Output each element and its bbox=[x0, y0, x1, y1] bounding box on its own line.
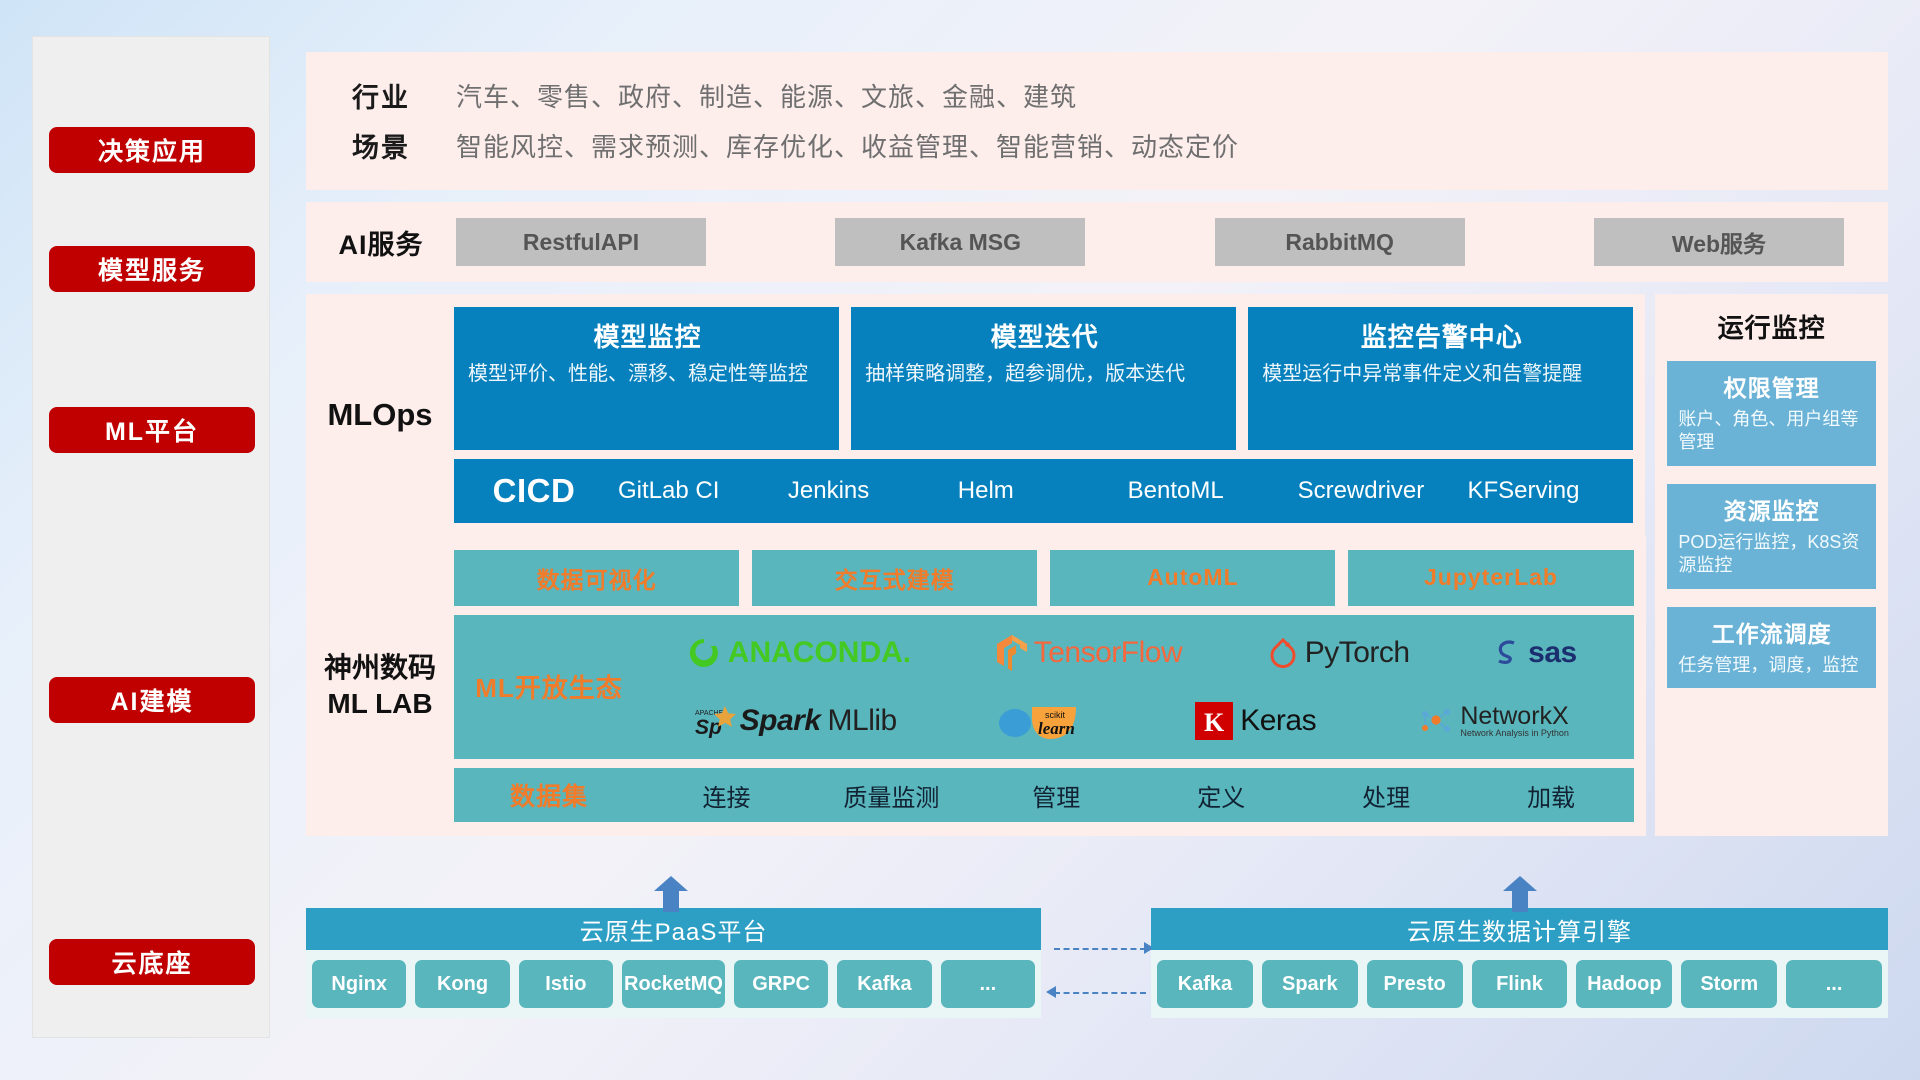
chip-label: Kafka MSG bbox=[900, 229, 1021, 256]
dataset-items: 连接 质量监测 管理 定义 处理 加载 bbox=[644, 778, 1634, 813]
dataset-item-connect[interactable]: 连接 bbox=[644, 778, 809, 813]
ai-service-chip-web-service[interactable]: Web服务 bbox=[1594, 218, 1844, 266]
compute-chip-more[interactable]: ... bbox=[1786, 960, 1882, 1008]
tensorflow-logo: TensorFlow bbox=[997, 635, 1182, 671]
stack-layer-rail: 决策应用 模型服务 ML平台 AI建模 云底座 bbox=[32, 36, 270, 1038]
spark-icon: APACHE Sp bbox=[695, 704, 737, 738]
dataset-item-loading[interactable]: 加载 bbox=[1469, 778, 1634, 813]
mlops-label: MLOps bbox=[306, 307, 454, 523]
paas-chip-kafka[interactable]: Kafka bbox=[837, 960, 931, 1008]
tool-chip-data-visualization[interactable]: 数据可视化 bbox=[454, 550, 739, 606]
ml-lab-label-line2: ML LAB bbox=[327, 686, 432, 722]
ml-lab-section: 神州数码 ML LAB 数据可视化 交互式建模 AutoML JupyterLa… bbox=[306, 536, 1646, 836]
cicd-label: CICD bbox=[454, 472, 614, 510]
card-title: 资源监控 bbox=[1678, 492, 1865, 526]
paas-chip-nginx[interactable]: Nginx bbox=[312, 960, 406, 1008]
scenario-row: 场景 智能风控、需求预测、库存优化、收益管理、智能营销、动态定价 bbox=[306, 120, 1888, 170]
anaconda-wordmark: ANACONDA. bbox=[728, 636, 911, 670]
chip-label: RabbitMQ bbox=[1285, 229, 1394, 256]
sas-logo: sas bbox=[1495, 636, 1577, 670]
pytorch-icon bbox=[1268, 636, 1298, 670]
mlops-card-alert-center[interactable]: 监控告警中心 模型运行中异常事件定义和告警提醒 bbox=[1248, 307, 1633, 450]
monitor-card-resource[interactable]: 资源监控 POD运行监控，K8S资源监控 bbox=[1667, 484, 1876, 589]
cloud-native-compute-title: 云原生数据计算引擎 bbox=[1151, 908, 1888, 950]
rail-chip-label: 云底座 bbox=[111, 944, 192, 980]
compute-chip-kafka[interactable]: Kafka bbox=[1157, 960, 1253, 1008]
keras-icon: K bbox=[1195, 702, 1233, 740]
rail-chip-decision-apps[interactable]: 决策应用 bbox=[49, 127, 255, 173]
ml-open-ecosystem-label: ML开放生态 bbox=[454, 668, 644, 705]
svg-text:Sp: Sp bbox=[695, 716, 722, 738]
cicd-item-gitlab-ci[interactable]: GitLab CI bbox=[614, 478, 784, 503]
pytorch-wordmark: PyTorch bbox=[1305, 636, 1410, 670]
networkx-logo: NetworkX Network Analysis in Python bbox=[1417, 704, 1569, 738]
compute-chip-storm[interactable]: Storm bbox=[1681, 960, 1777, 1008]
cicd-item-helm[interactable]: Helm bbox=[954, 478, 1124, 503]
sas-wordmark: sas bbox=[1528, 636, 1577, 670]
scenario-label: 场景 bbox=[306, 126, 456, 165]
cloud-base-section: 云原生PaaS平台 Nginx Kong Istio RocketMQ GRPC… bbox=[306, 880, 1888, 1040]
paas-chip-grpc[interactable]: GRPC bbox=[734, 960, 828, 1008]
paas-chip-kong[interactable]: Kong bbox=[415, 960, 509, 1008]
runtime-monitor-title: 运行监控 bbox=[1667, 308, 1876, 345]
cloud-native-paas-title: 云原生PaaS平台 bbox=[306, 908, 1041, 950]
mlops-cards: 模型监控 模型评价、性能、漂移、稳定性等监控 模型迭代 抽样策略调整，超参调优，… bbox=[454, 307, 1633, 450]
connector-line-left bbox=[1054, 992, 1146, 994]
cloud-native-paas-group: 云原生PaaS平台 Nginx Kong Istio RocketMQ GRPC… bbox=[306, 908, 1041, 1018]
paas-chip-rocketmq[interactable]: RocketMQ bbox=[622, 960, 725, 1008]
dataset-item-definition[interactable]: 定义 bbox=[1139, 778, 1304, 813]
ai-service-chip-kafka-msg[interactable]: Kafka MSG bbox=[835, 218, 1085, 266]
tensorflow-wordmark: TensorFlow bbox=[1034, 636, 1182, 670]
dataset-label: 数据集 bbox=[454, 777, 644, 813]
cloud-native-compute-items: Kafka Spark Presto Flink Hadoop Storm ..… bbox=[1151, 950, 1888, 1018]
tool-chip-jupyterlab[interactable]: JupyterLab bbox=[1348, 550, 1633, 606]
spark-mllib-logo: APACHE Sp Spark MLlib bbox=[695, 704, 897, 738]
tool-chip-automl[interactable]: AutoML bbox=[1050, 550, 1335, 606]
card-desc: 账户、角色、用户组等管理 bbox=[1678, 408, 1865, 455]
industry-label: 行业 bbox=[306, 76, 456, 115]
mlops-card-model-iteration[interactable]: 模型迭代 抽样策略调整，超参调优，版本迭代 bbox=[851, 307, 1236, 450]
card-title: 模型迭代 bbox=[865, 317, 1224, 354]
industry-value: 汽车、零售、政府、制造、能源、文旅、金融、建筑 bbox=[456, 77, 1077, 114]
card-desc: 任务管理，调度，监控 bbox=[1678, 654, 1865, 677]
rail-chip-label: ML平台 bbox=[105, 412, 199, 448]
networkx-tagline: Network Analysis in Python bbox=[1460, 729, 1569, 738]
card-desc: 抽样策略调整，超参调优，版本迭代 bbox=[865, 362, 1224, 388]
sas-icon bbox=[1495, 638, 1521, 668]
chip-label: RestfulAPI bbox=[523, 229, 639, 256]
runtime-monitor-sidebar: 运行监控 权限管理 账户、角色、用户组等管理 资源监控 POD运行监控，K8S资… bbox=[1655, 294, 1888, 836]
dataset-item-quality-monitoring[interactable]: 质量监测 bbox=[809, 778, 974, 813]
ecosystem-logo-row-1: ANACONDA. TensorFlow bbox=[644, 621, 1620, 685]
spark-wordmark: Spark bbox=[740, 704, 821, 738]
dataset-row: 数据集 连接 质量监测 管理 定义 处理 加载 bbox=[454, 768, 1634, 822]
connector-line-right bbox=[1054, 948, 1146, 950]
cicd-item-kfserving[interactable]: KFServing bbox=[1463, 478, 1633, 503]
ai-modeling-band: 神州数码 ML LAB 数据可视化 交互式建模 AutoML JupyterLa… bbox=[306, 536, 1888, 836]
monitor-card-permission[interactable]: 权限管理 账户、角色、用户组等管理 bbox=[1667, 361, 1876, 466]
architecture-content: 行业 汽车、零售、政府、制造、能源、文旅、金融、建筑 场景 智能风控、需求预测、… bbox=[306, 52, 1888, 836]
tensorflow-icon bbox=[997, 635, 1027, 671]
keras-mark: K bbox=[1204, 708, 1225, 737]
ecosystem-logos: ANACONDA. TensorFlow bbox=[644, 621, 1634, 753]
ai-service-items: RestfulAPI Kafka MSG RabbitMQ Web服务 bbox=[456, 218, 1888, 266]
scikit-learn-icon: scikit learn bbox=[998, 701, 1094, 741]
card-desc: POD运行监控，K8S资源监控 bbox=[1678, 531, 1865, 578]
cloud-native-compute-group: 云原生数据计算引擎 Kafka Spark Presto Flink Hadoo… bbox=[1151, 908, 1888, 1018]
svg-text:learn: learn bbox=[1038, 719, 1075, 738]
monitor-card-workflow[interactable]: 工作流调度 任务管理，调度，监控 bbox=[1667, 607, 1876, 688]
ml-lab-label-line1: 神州数码 bbox=[324, 650, 436, 686]
ai-service-band: AI服务 RestfulAPI Kafka MSG RabbitMQ Web服务 bbox=[306, 202, 1888, 282]
cicd-row: CICD GitLab CI Jenkins Helm BentoML Scre… bbox=[454, 459, 1633, 523]
keras-logo: K Keras bbox=[1195, 702, 1316, 740]
connector-arrow-left-icon bbox=[1046, 986, 1056, 998]
networkx-icon bbox=[1417, 704, 1453, 738]
decision-apps-band: 行业 汽车、零售、政府、制造、能源、文旅、金融、建筑 场景 智能风控、需求预测、… bbox=[306, 52, 1888, 190]
mllib-wordmark: MLlib bbox=[828, 704, 897, 738]
mlops-body: 模型监控 模型评价、性能、漂移、稳定性等监控 模型迭代 抽样策略调整，超参调优，… bbox=[454, 307, 1645, 523]
rail-chip-label: 模型服务 bbox=[98, 251, 206, 287]
compute-chip-hadoop[interactable]: Hadoop bbox=[1576, 960, 1672, 1008]
rail-chip-ml-platform[interactable]: ML平台 bbox=[49, 407, 255, 453]
dataset-item-management[interactable]: 管理 bbox=[974, 778, 1139, 813]
tool-chip-interactive-modeling[interactable]: 交互式建模 bbox=[752, 550, 1037, 606]
ml-lab-tools: 数据可视化 交互式建模 AutoML JupyterLab bbox=[454, 550, 1634, 606]
arrow-up-icon-paas bbox=[654, 876, 688, 910]
mlops-card-model-monitoring[interactable]: 模型监控 模型评价、性能、漂移、稳定性等监控 bbox=[454, 307, 839, 450]
card-desc: 模型运行中异常事件定义和告警提醒 bbox=[1262, 362, 1621, 388]
rail-chip-model-service[interactable]: 模型服务 bbox=[49, 246, 255, 292]
compute-chip-spark[interactable]: Spark bbox=[1262, 960, 1358, 1008]
keras-wordmark: Keras bbox=[1240, 704, 1316, 738]
ai-service-chip-rabbitmq[interactable]: RabbitMQ bbox=[1215, 218, 1465, 266]
pytorch-logo: PyTorch bbox=[1268, 636, 1410, 670]
ml-platform-band: MLOps 模型监控 模型评价、性能、漂移、稳定性等监控 模型迭代 抽样策略调整… bbox=[306, 294, 1888, 536]
cicd-item-bentoml[interactable]: BentoML bbox=[1124, 478, 1294, 503]
industry-row: 行业 汽车、零售、政府、制造、能源、文旅、金融、建筑 bbox=[306, 70, 1888, 120]
rail-chip-label: AI建模 bbox=[110, 682, 193, 718]
anaconda-icon bbox=[687, 636, 721, 670]
ai-service-chip-restfulapi[interactable]: RestfulAPI bbox=[456, 218, 706, 266]
card-title: 权限管理 bbox=[1678, 369, 1865, 403]
rail-chip-label: 决策应用 bbox=[98, 132, 206, 168]
compute-chip-flink[interactable]: Flink bbox=[1472, 960, 1568, 1008]
ml-open-ecosystem-row: ML开放生态 ANACONDA. bbox=[454, 615, 1634, 759]
scenario-value: 智能风控、需求预测、库存优化、收益管理、智能营销、动态定价 bbox=[456, 127, 1239, 164]
ai-service-label: AI服务 bbox=[306, 223, 456, 262]
cloud-native-paas-items: Nginx Kong Istio RocketMQ GRPC Kafka ... bbox=[306, 950, 1041, 1018]
rail-chip-cloud-base[interactable]: 云底座 bbox=[49, 939, 255, 985]
card-title: 工作流调度 bbox=[1678, 615, 1865, 649]
compute-chip-presto[interactable]: Presto bbox=[1367, 960, 1463, 1008]
card-title: 模型监控 bbox=[468, 317, 827, 354]
rail-chip-ai-modeling[interactable]: AI建模 bbox=[49, 677, 255, 723]
mlops-section: MLOps 模型监控 模型评价、性能、漂移、稳定性等监控 模型迭代 抽样策略调整… bbox=[306, 294, 1645, 536]
chip-label: Web服务 bbox=[1672, 225, 1766, 259]
anaconda-logo: ANACONDA. bbox=[687, 636, 911, 670]
paas-chip-istio[interactable]: Istio bbox=[519, 960, 613, 1008]
card-title: 监控告警中心 bbox=[1262, 317, 1621, 354]
arrow-up-icon-compute bbox=[1503, 876, 1537, 910]
ml-lab-body: 数据可视化 交互式建模 AutoML JupyterLab ML开放生态 bbox=[454, 550, 1646, 822]
paas-chip-more[interactable]: ... bbox=[941, 960, 1035, 1008]
card-desc: 模型评价、性能、漂移、稳定性等监控 bbox=[468, 362, 827, 388]
cicd-item-screwdriver[interactable]: Screwdriver bbox=[1294, 478, 1464, 503]
ecosystem-logo-row-2: APACHE Sp Spark MLlib bbox=[644, 689, 1620, 753]
cicd-item-jenkins[interactable]: Jenkins bbox=[784, 478, 954, 503]
ml-lab-label: 神州数码 ML LAB bbox=[306, 550, 454, 822]
networkx-wordmark: NetworkX bbox=[1460, 704, 1569, 729]
cicd-items: GitLab CI Jenkins Helm BentoML Screwdriv… bbox=[614, 478, 1633, 503]
dataset-item-processing[interactable]: 处理 bbox=[1304, 778, 1469, 813]
scikit-learn-logo: scikit learn bbox=[998, 701, 1094, 741]
